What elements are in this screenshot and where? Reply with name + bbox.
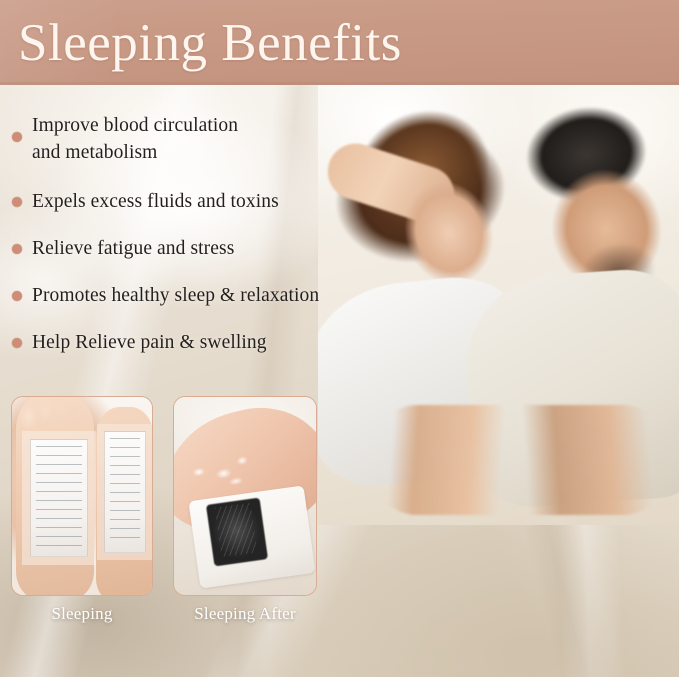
header-band: Sleeping Benefits [0, 0, 679, 85]
used-patch-texture [215, 503, 258, 558]
embracing-arms [370, 405, 670, 515]
toes [18, 396, 94, 435]
benefit-label: Promotes healthy sleep & relaxation [32, 282, 319, 309]
benefit-line: Improve blood circulation [32, 115, 238, 136]
list-item: Help Relieve pain & swelling [12, 329, 342, 356]
patch-print-lines [36, 446, 82, 550]
thumbnail-caption: Sleeping [11, 602, 153, 626]
bullet-dot-icon [12, 291, 22, 301]
thumbnail-caption: Sleeping After [173, 602, 317, 626]
list-item: Improve blood circulation and metabolism [12, 112, 342, 166]
patch-print-lines [110, 438, 140, 546]
benefit-label: Expels excess fluids and toxins [32, 188, 279, 215]
bullet-dot-icon [12, 244, 22, 254]
couple-sleeping-photo [318, 85, 679, 525]
list-item: Promotes healthy sleep & relaxation [12, 282, 342, 309]
bullet-dot-icon [12, 338, 22, 348]
list-item: Expels excess fluids and toxins [12, 188, 342, 215]
list-item: Relieve fatigue and stress [12, 235, 342, 262]
bullet-dot-icon [12, 197, 22, 207]
sleeping-benefits-poster: Sleeping Benefits Improve blood circulat… [0, 0, 679, 677]
foot-patch-left [30, 439, 88, 557]
benefit-label: Help Relieve pain & swelling [32, 329, 267, 356]
benefits-list: Improve blood circulation and metabolism… [12, 112, 342, 376]
benefit-label: Improve blood circulation and metabolism [32, 112, 238, 166]
bullet-dot-icon [12, 132, 22, 142]
thumbnail-sleeping: Sleeping [11, 396, 153, 626]
thumbnail-sleeping-after: Sleeping After [173, 396, 317, 626]
foot-patches-applied-photo [11, 396, 153, 596]
benefit-line: and metabolism [32, 142, 157, 163]
foot-patch-right [104, 431, 146, 553]
foot-patch-used-dark-photo [173, 396, 317, 596]
benefit-label: Relieve fatigue and stress [32, 235, 234, 262]
page-title: Sleeping Benefits [18, 4, 402, 82]
